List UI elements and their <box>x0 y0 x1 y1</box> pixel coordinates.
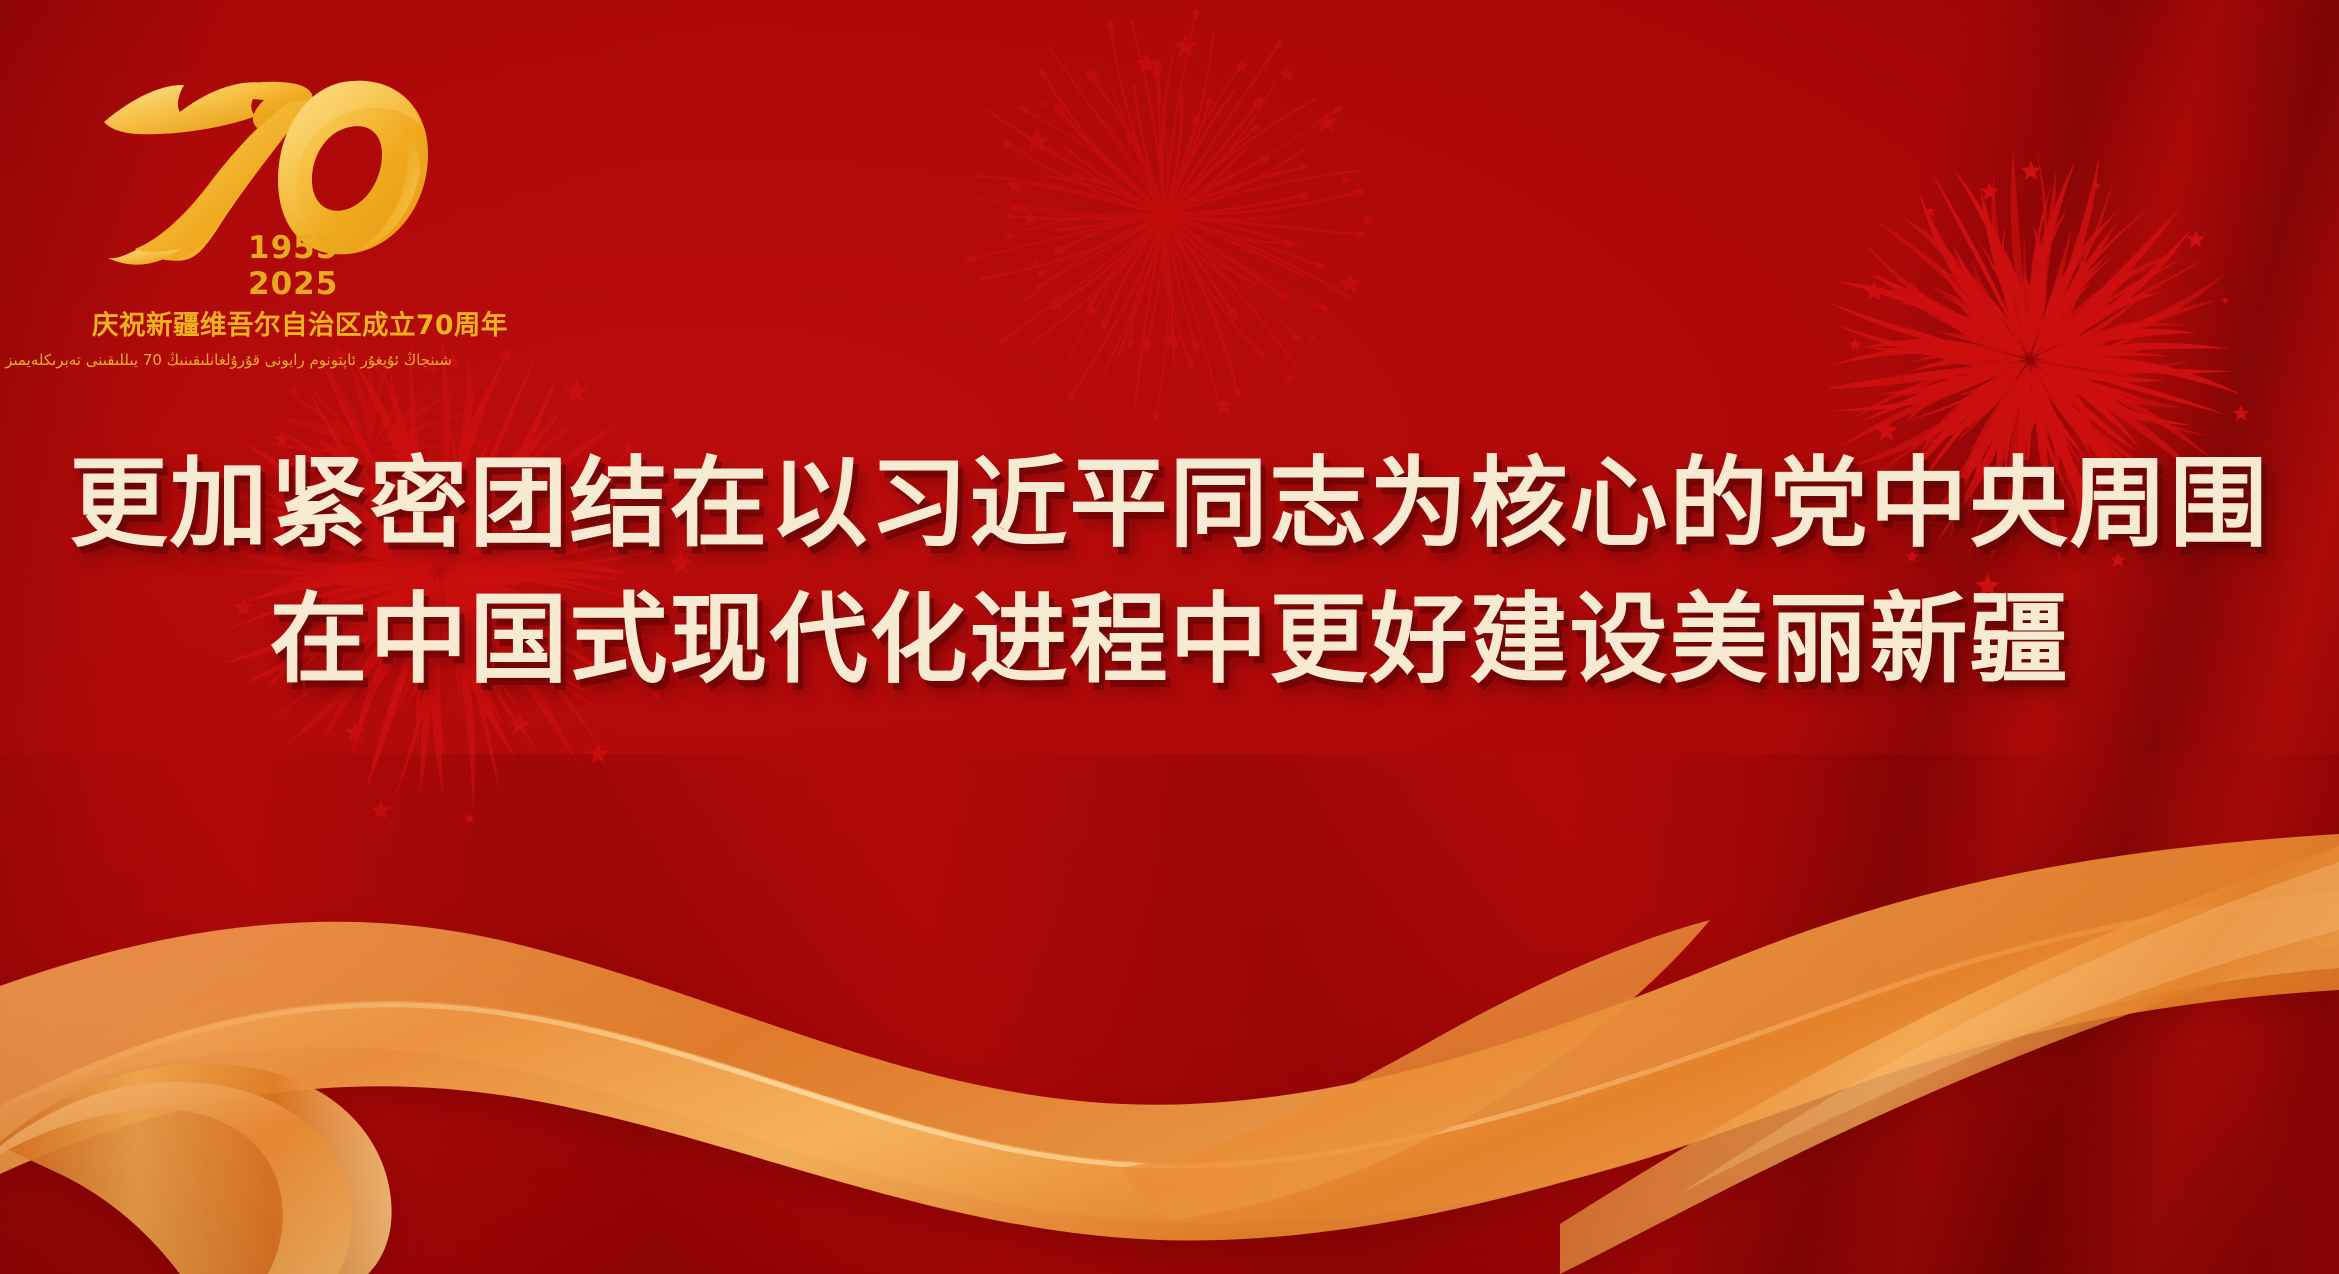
celebration-poster: 1955-2025 庆祝新疆维吾尔自治区成立70周年 شىنجاڭ ئۇيغۇر… <box>0 0 2339 1274</box>
silk-folds-bottom <box>0 754 2339 1274</box>
emblem-chinese-caption: 庆祝新疆维吾尔自治区成立70周年 <box>92 303 452 342</box>
headline-block: 更加紧密团结在以习近平同志为核心的党中央周围 在中国式现代化进程中更好建设美丽新… <box>0 452 2339 692</box>
anniversary-emblem: 1955-2025 庆祝新疆维吾尔自治区成立70周年 شىنجاڭ ئۇيغۇر… <box>92 52 452 369</box>
emblem-years: 1955-2025 <box>248 230 430 302</box>
emblem-uyghur-caption: شىنجاڭ ئۇيغۇر ئاپتونوم رايونى قۇرۇلغانلى… <box>92 351 452 369</box>
headline-line-1: 更加紧密团结在以习近平同志为核心的党中央周围 <box>0 452 2339 556</box>
seventy-ribbon-logo: 1955-2025 <box>100 52 430 267</box>
headline-line-2: 在中国式现代化进程中更好建设美丽新疆 <box>0 588 2339 692</box>
